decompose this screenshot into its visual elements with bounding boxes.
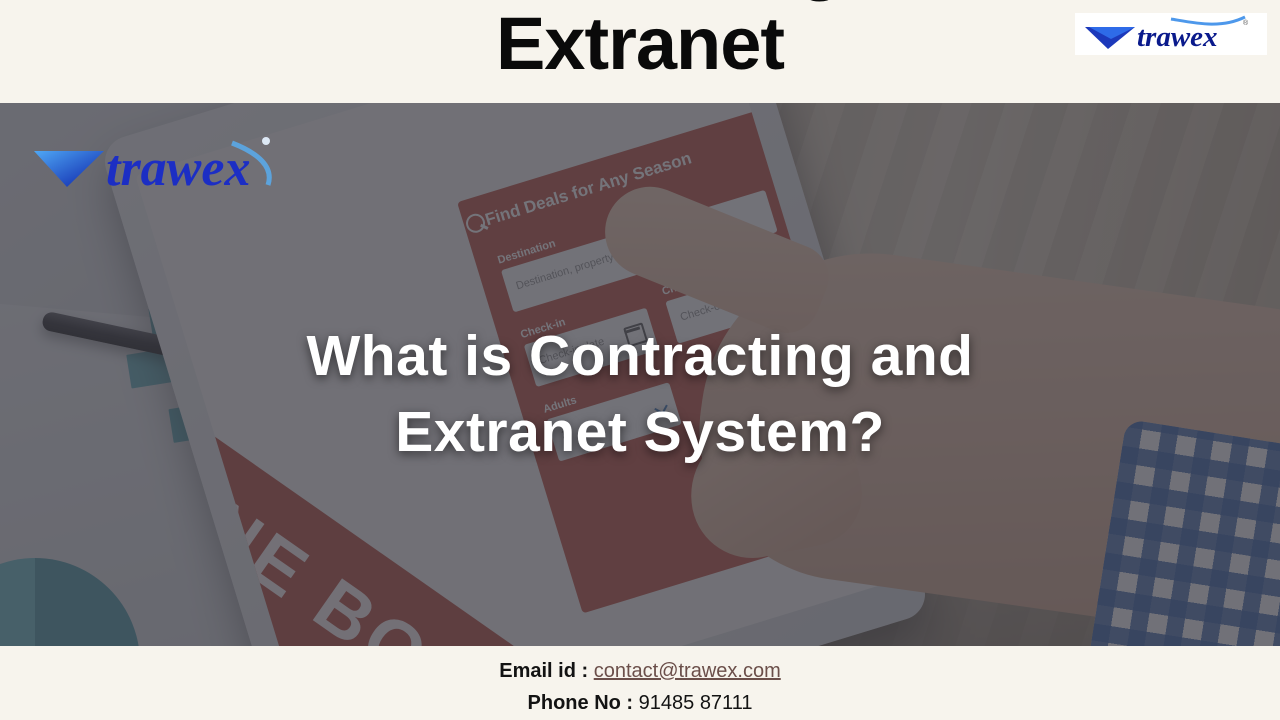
slide-header: Contracting Extranet trawex ® (0, 0, 1280, 103)
trawex-logo-header[interactable]: trawex ® (1075, 13, 1267, 55)
hero-headline: What is Contracting and Extranet System? (0, 318, 1280, 470)
trawex-logo-svg: trawex ® (1075, 13, 1267, 55)
logo-wordmark: trawex (1137, 21, 1218, 53)
hero-headline-line-1: What is Contracting and (0, 318, 1280, 394)
hero-photo: ONLINE BOOKING Find Deals for Any Season… (0, 103, 1280, 646)
triangle-icon (34, 151, 104, 187)
trademark-symbol: ® (1243, 19, 1249, 27)
slide-footer: Email id : contact@trawex.com Phone No :… (0, 646, 1280, 720)
email-link[interactable]: contact@trawex.com (594, 660, 781, 682)
logo-dot-icon (262, 137, 270, 145)
trawex-watermark-svg: trawex (22, 123, 312, 203)
footer-phone-line: Phone No : 91485 87111 (0, 687, 1280, 719)
hero-headline-line-2: Extranet System? (0, 394, 1280, 470)
phone-label: Phone No : (528, 692, 634, 714)
watermark-wordmark: trawex (106, 140, 250, 197)
email-label: Email id : (499, 660, 588, 682)
trawex-logo-watermark: trawex (22, 123, 312, 203)
footer-email-line: Email id : contact@trawex.com (0, 646, 1280, 687)
phone-value: 91485 87111 (639, 692, 753, 714)
slide-root: Contracting Extranet trawex ® (0, 0, 1280, 720)
